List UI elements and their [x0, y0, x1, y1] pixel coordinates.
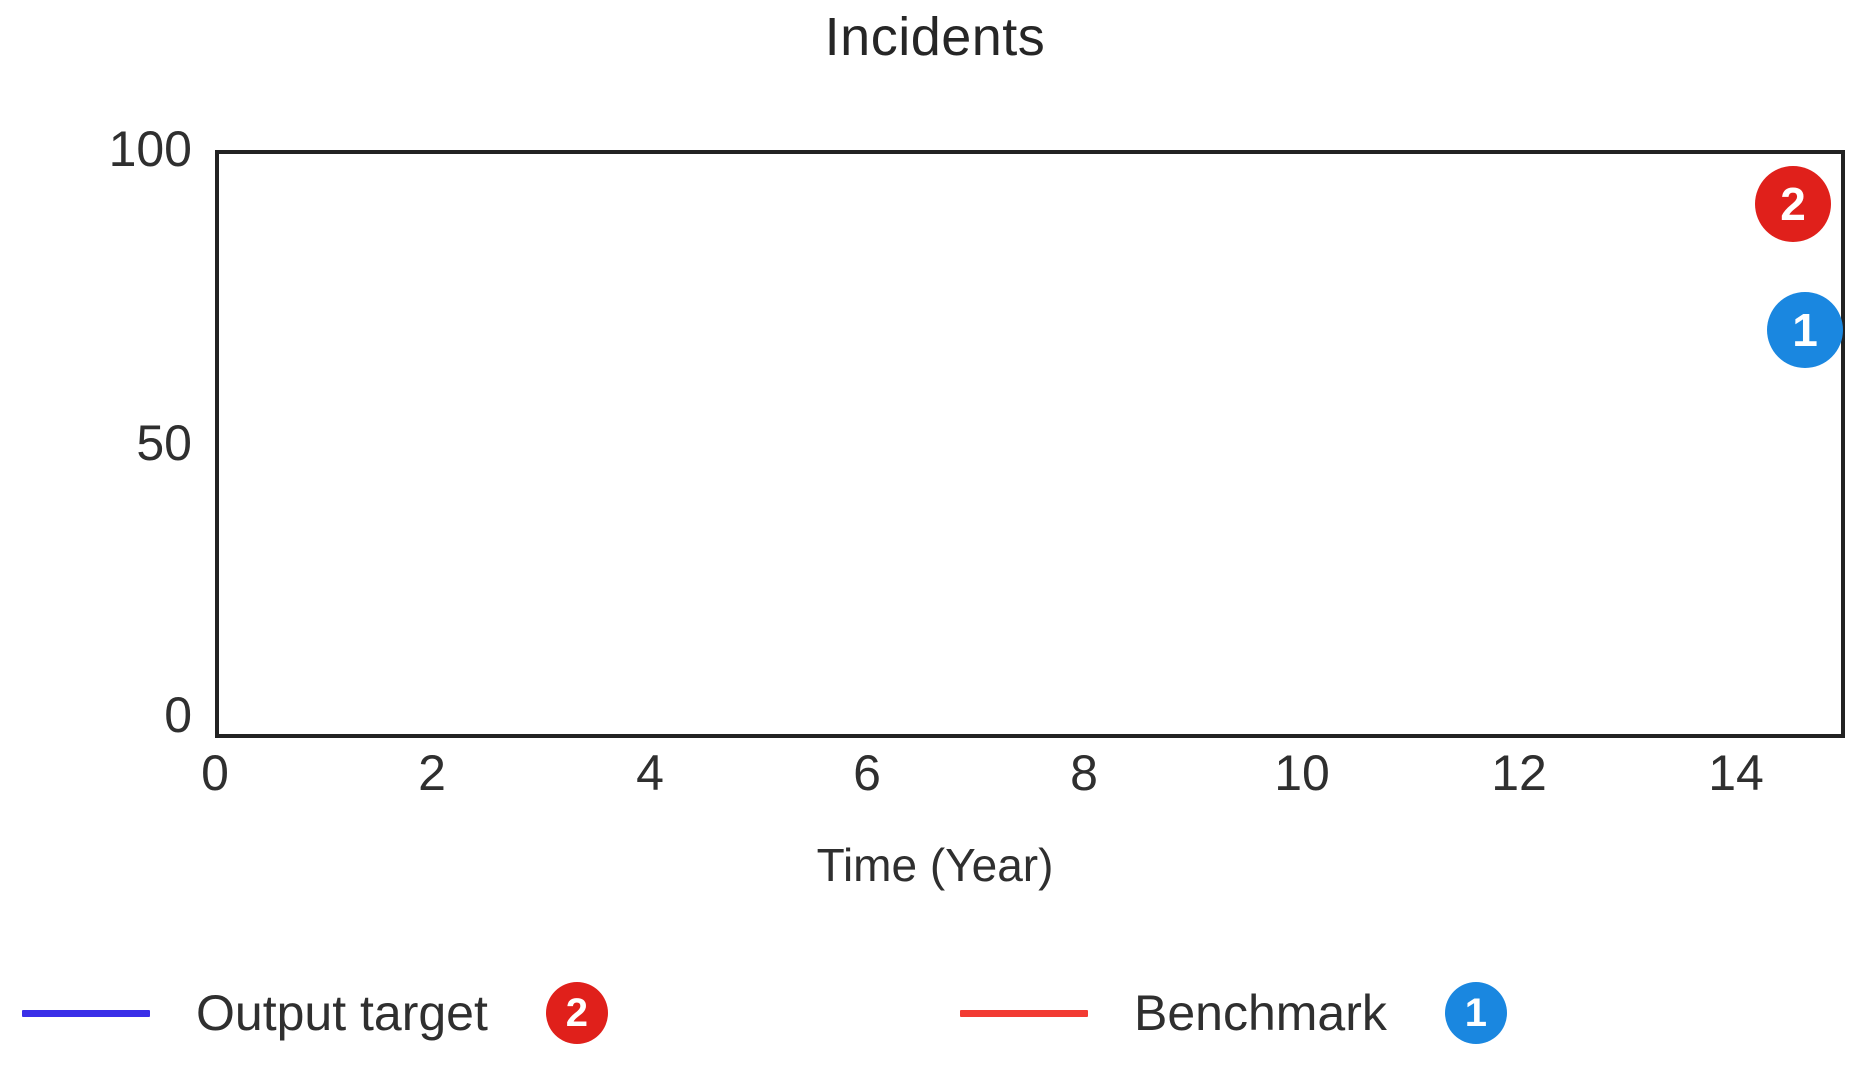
legend-item-output-target[interactable]: Output target 2	[22, 973, 608, 1053]
legend-item-benchmark[interactable]: Benchmark 1	[960, 973, 1507, 1053]
x-tick-label-14: 14	[1708, 748, 1764, 798]
x-tick-label-0: 0	[201, 748, 229, 798]
x-tick-label-2: 2	[418, 748, 446, 798]
legend-badge-slot-2: 1	[1445, 982, 1507, 1044]
x-tick-label-10: 10	[1274, 748, 1330, 798]
chart-container: Incidents 100 50 0	[0, 0, 1870, 1081]
legend-line-swatch-red	[960, 1010, 1088, 1017]
legend-badge-slot-1: 2	[546, 982, 608, 1044]
plot-frame-border	[215, 150, 1845, 738]
chart-legend: Output target 2 Benchmark 1	[0, 955, 1870, 1075]
legend-label-output-target: Output target	[196, 984, 488, 1042]
y-tick-label-0: 0	[164, 690, 192, 740]
x-axis-title: Time (Year)	[0, 838, 1870, 892]
badge-2-red[interactable]: 2	[1755, 166, 1831, 242]
legend-line-swatch-blue	[22, 1010, 150, 1017]
plot-area: 2 1	[215, 150, 1845, 738]
badge-1-blue[interactable]: 1	[1767, 292, 1843, 368]
legend-badge-1-blue[interactable]: 1	[1445, 982, 1507, 1044]
legend-badge-2-red[interactable]: 2	[546, 982, 608, 1044]
legend-label-benchmark: Benchmark	[1134, 984, 1387, 1042]
x-tick-label-8: 8	[1070, 748, 1098, 798]
x-tick-label-6: 6	[853, 748, 881, 798]
y-tick-label-100: 100	[109, 124, 192, 174]
x-tick-label-12: 12	[1491, 748, 1547, 798]
x-tick-label-4: 4	[636, 748, 664, 798]
chart-title: Incidents	[0, 8, 1870, 67]
y-tick-label-50: 50	[136, 418, 192, 468]
